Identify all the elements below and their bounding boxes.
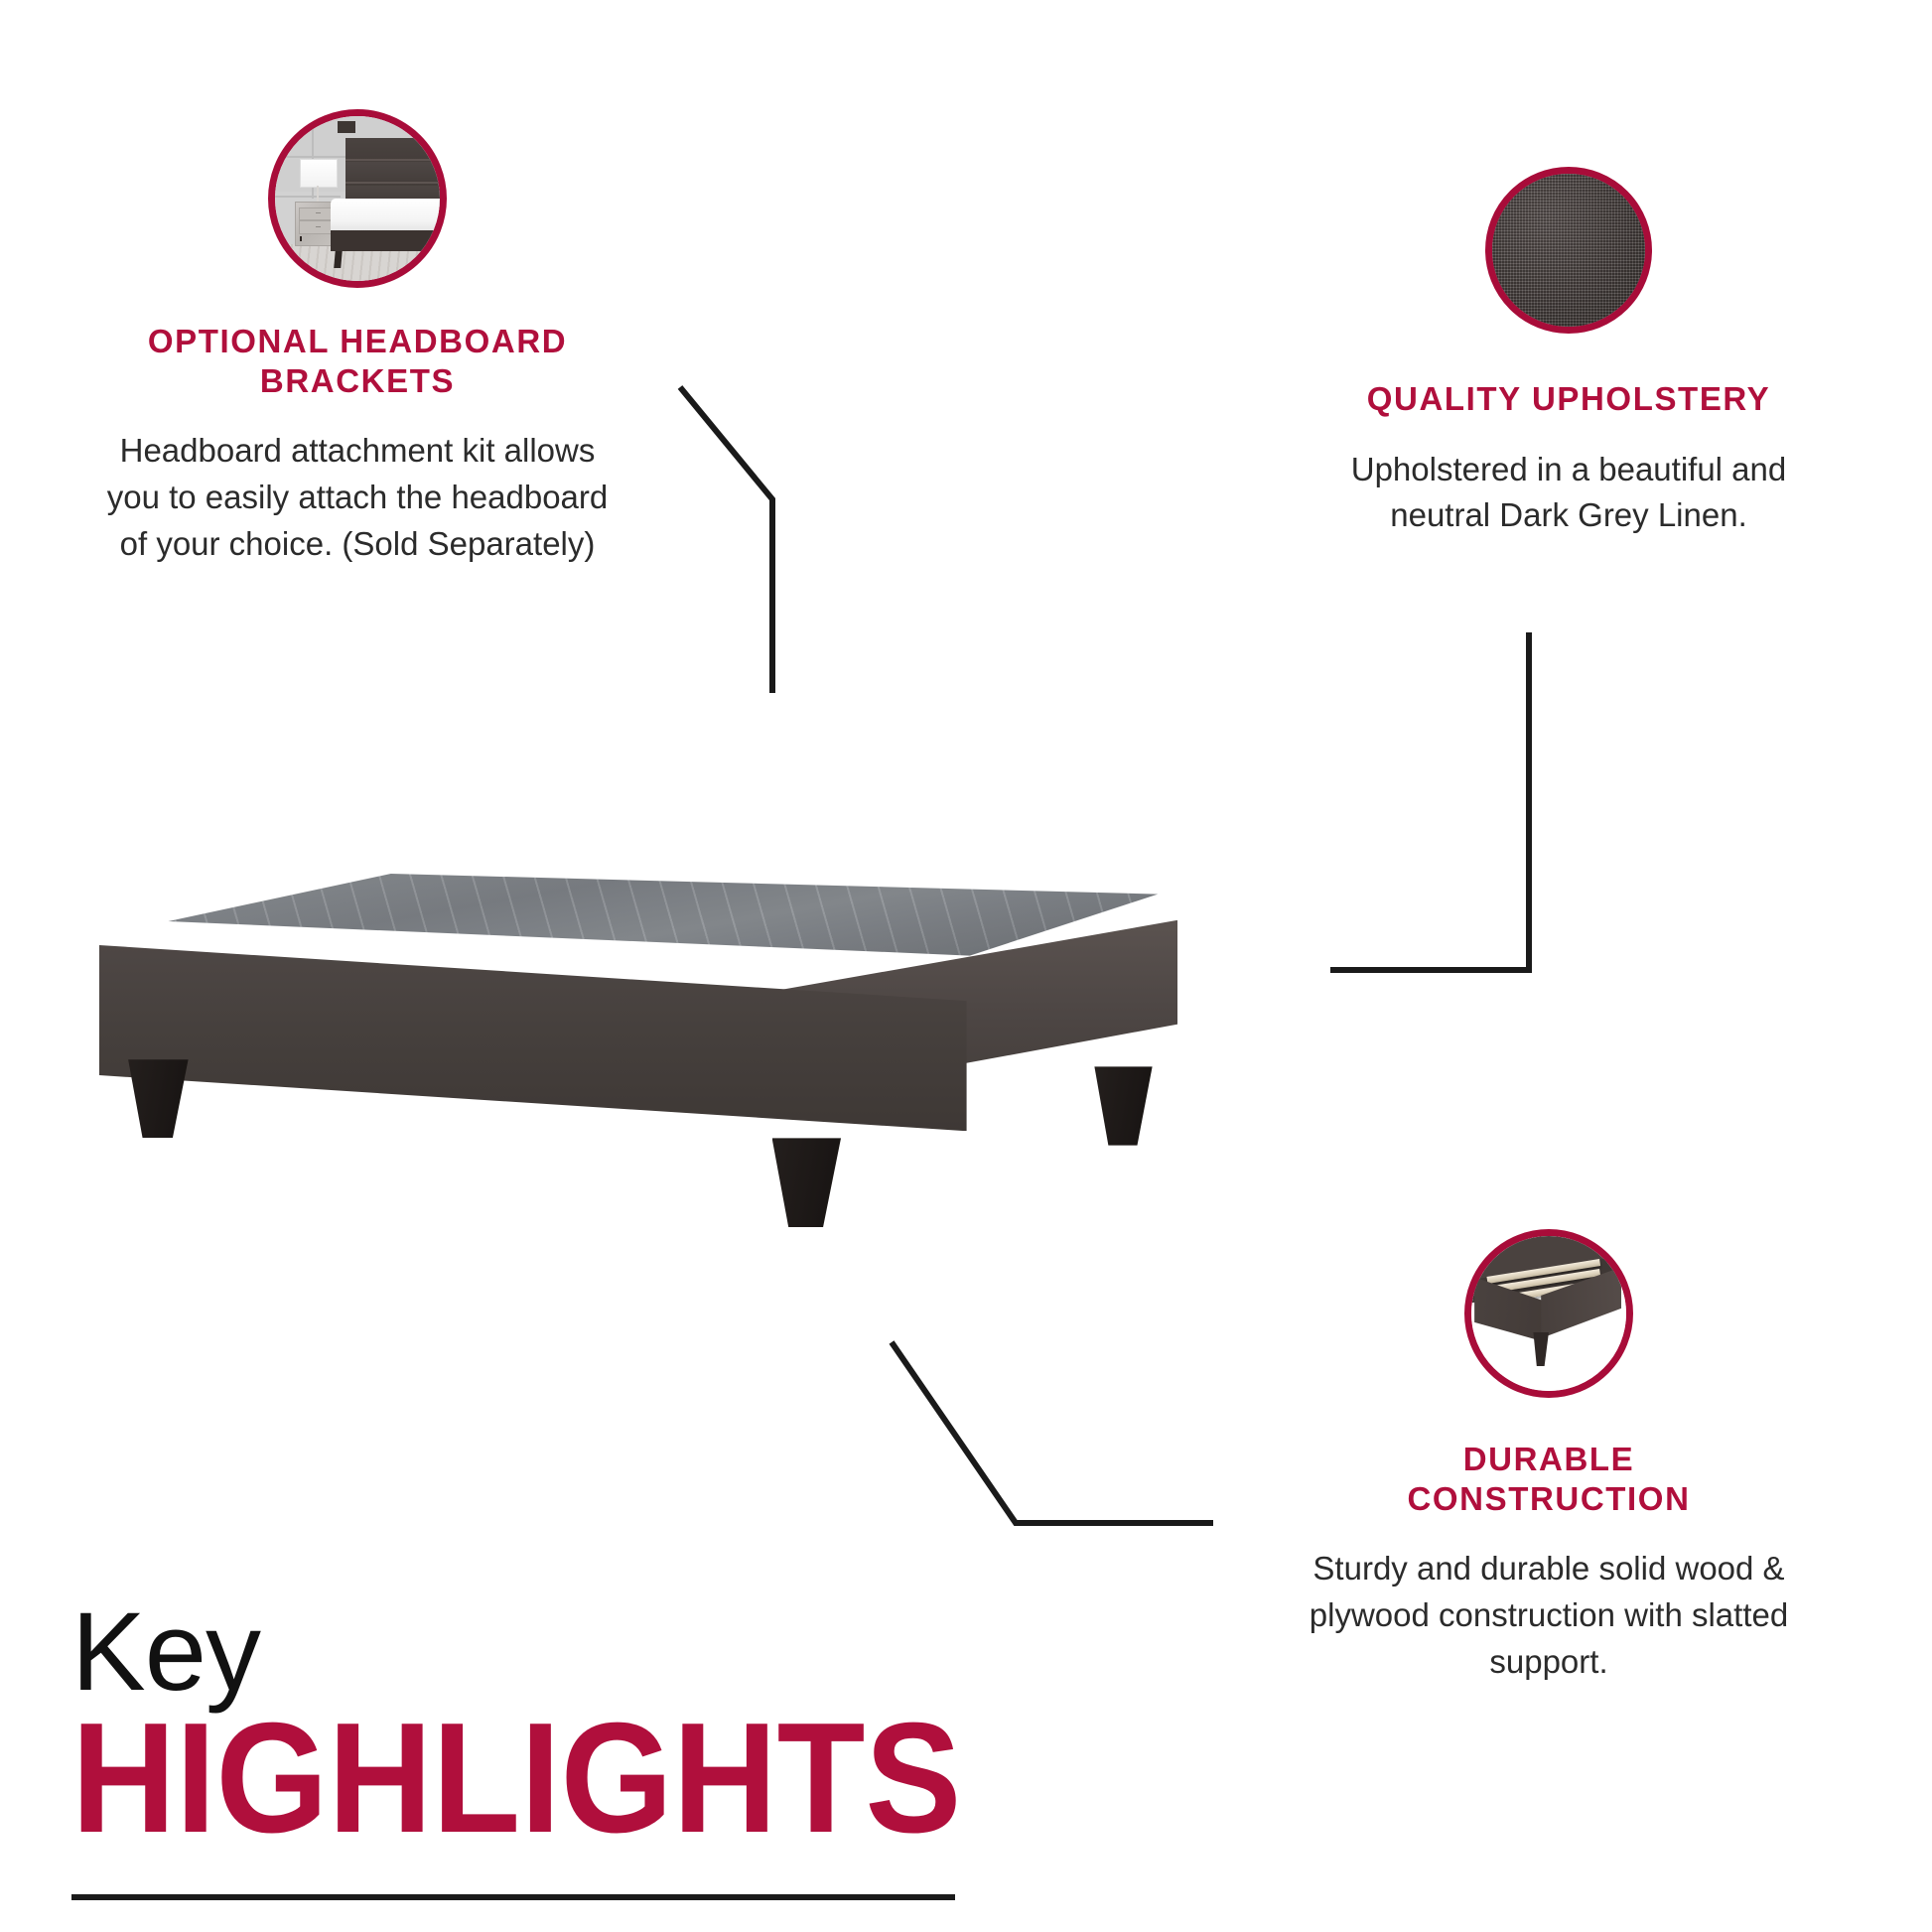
- bed-frame-slats-corner-photo-icon: [1464, 1229, 1633, 1398]
- feature-body: Sturdy and durable solid wood & plywood …: [1261, 1546, 1837, 1686]
- product-leg-back-right: [1094, 1066, 1152, 1145]
- feature-quality-upholstery: QUALITY UPHOLSTERY Upholstered in a beau…: [1281, 167, 1857, 539]
- product-front-panel: [99, 945, 967, 1131]
- feature-optional-headboard-brackets: OPTIONAL HEADBOARD BRACKETS Headboard at…: [60, 109, 655, 568]
- key-highlights-headline: HIGHLIGHTS: [71, 1707, 985, 1851]
- connector-headboard: [680, 387, 772, 693]
- feature-title: QUALITY UPHOLSTERY: [1281, 379, 1857, 419]
- product-leg-front-left: [128, 1059, 188, 1138]
- connector-construction: [892, 1342, 1213, 1523]
- feature-body: Headboard attachment kit allows you to e…: [89, 428, 625, 568]
- feature-title: OPTIONAL HEADBOARD BRACKETS: [99, 322, 616, 400]
- product-photo-upholstered-platform-bed-base: [99, 874, 1211, 1231]
- bedroom-headboard-photo-icon: [268, 109, 447, 288]
- feature-durable-construction: DURABLE CONSTRUCTION Sturdy and durable …: [1241, 1229, 1857, 1686]
- feature-body: Upholstered in a beautiful and neutral D…: [1301, 447, 1837, 540]
- connector-upholstery: [1330, 632, 1529, 970]
- key-highlights-block: Key HIGHLIGHTS: [71, 1600, 1064, 1900]
- infographic-canvas: OPTIONAL HEADBOARD BRACKETS Headboard at…: [0, 0, 1932, 1932]
- key-highlights-eyebrow: Key: [71, 1600, 1064, 1703]
- key-highlights-rule: [71, 1894, 955, 1900]
- dark-grey-linen-swatch-icon: [1485, 167, 1652, 334]
- product-leg-front-right: [772, 1138, 841, 1227]
- feature-title: DURABLE CONSTRUCTION: [1355, 1440, 1742, 1518]
